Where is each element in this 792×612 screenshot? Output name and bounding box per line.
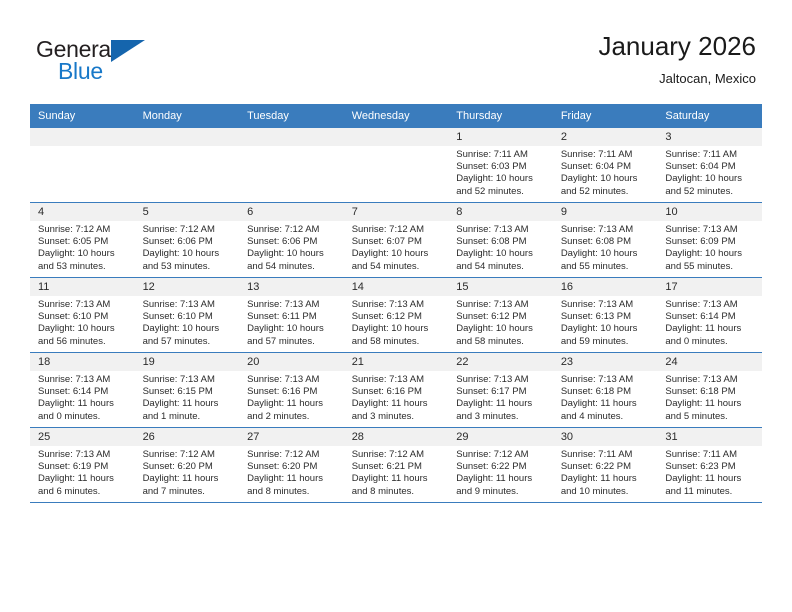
daylight-text-line1: Daylight: 10 hours [456,323,547,335]
calendar-header-row: Sunday Monday Tuesday Wednesday Thursday… [30,104,762,128]
day-cell-inner: 15Sunrise: 7:13 AMSunset: 6:12 PMDayligh… [448,278,553,352]
day-details: Sunrise: 7:13 AMSunset: 6:16 PMDaylight:… [344,371,449,423]
weekday-header-thursday: Thursday [448,104,553,128]
day-cell-inner: 27Sunrise: 7:12 AMSunset: 6:20 PMDayligh… [239,428,344,502]
day-cell-inner: 1Sunrise: 7:11 AMSunset: 6:03 PMDaylight… [448,128,553,202]
daylight-text-line1: Daylight: 10 hours [456,248,547,260]
brand-logo[interactable]: General Blue [36,36,166,88]
day-number: 9 [553,203,658,221]
daylight-text-line1: Daylight: 11 hours [665,398,756,410]
daylight-text-line2: and 58 minutes. [456,336,547,348]
calendar-cell-empty [344,128,449,203]
calendar-day-cell[interactable]: 17Sunrise: 7:13 AMSunset: 6:14 PMDayligh… [657,278,762,353]
day-cell-inner: 26Sunrise: 7:12 AMSunset: 6:20 PMDayligh… [135,428,240,502]
daylight-text-line2: and 3 minutes. [352,411,443,423]
day-number: 21 [344,353,449,371]
daylight-text-line1: Daylight: 10 hours [247,248,338,260]
day-cell-inner: 25Sunrise: 7:13 AMSunset: 6:19 PMDayligh… [30,428,135,502]
daylight-text-line2: and 52 minutes. [456,186,547,198]
day-number: 24 [657,353,762,371]
daylight-text-line1: Daylight: 11 hours [143,473,234,485]
calendar-day-cell[interactable]: 20Sunrise: 7:13 AMSunset: 6:16 PMDayligh… [239,353,344,428]
sunrise-text: Sunrise: 7:12 AM [143,449,234,461]
daylight-text-line1: Daylight: 10 hours [665,173,756,185]
day-number: 8 [448,203,553,221]
calendar-day-cell[interactable]: 3Sunrise: 7:11 AMSunset: 6:04 PMDaylight… [657,128,762,203]
day-cell-inner [344,128,449,202]
calendar-day-cell[interactable]: 9Sunrise: 7:13 AMSunset: 6:08 PMDaylight… [553,203,658,278]
sunset-text: Sunset: 6:04 PM [561,161,652,173]
daylight-text-line2: and 4 minutes. [561,411,652,423]
weekday-header-tuesday: Tuesday [239,104,344,128]
daylight-text-line1: Daylight: 10 hours [247,323,338,335]
calendar-day-cell[interactable]: 28Sunrise: 7:12 AMSunset: 6:21 PMDayligh… [344,428,449,503]
day-number: 13 [239,278,344,296]
day-cell-inner: 20Sunrise: 7:13 AMSunset: 6:16 PMDayligh… [239,353,344,427]
sunset-text: Sunset: 6:18 PM [561,386,652,398]
sunset-text: Sunset: 6:07 PM [352,236,443,248]
calendar-day-cell[interactable]: 5Sunrise: 7:12 AMSunset: 6:06 PMDaylight… [135,203,240,278]
day-details: Sunrise: 7:13 AMSunset: 6:18 PMDaylight:… [553,371,658,423]
weekday-header-monday: Monday [135,104,240,128]
triangle-flag-icon [111,40,145,62]
page-title: January 2026 [598,30,756,62]
day-cell-inner: 31Sunrise: 7:11 AMSunset: 6:23 PMDayligh… [657,428,762,502]
day-details: Sunrise: 7:12 AMSunset: 6:06 PMDaylight:… [239,221,344,273]
day-details: Sunrise: 7:12 AMSunset: 6:06 PMDaylight:… [135,221,240,273]
sunrise-text: Sunrise: 7:13 AM [38,449,129,461]
day-number: 22 [448,353,553,371]
day-cell-inner [239,128,344,202]
sunset-text: Sunset: 6:08 PM [456,236,547,248]
day-details: Sunrise: 7:13 AMSunset: 6:14 PMDaylight:… [30,371,135,423]
daylight-text-line2: and 2 minutes. [247,411,338,423]
daylight-text-line2: and 11 minutes. [665,486,756,498]
day-cell-inner: 2Sunrise: 7:11 AMSunset: 6:04 PMDaylight… [553,128,658,202]
calendar-page: General Blue January 2026 Jaltocan, Mexi… [0,0,792,612]
day-number [239,128,344,146]
daylight-text-line1: Daylight: 11 hours [561,398,652,410]
page-subtitle: Jaltocan, Mexico [598,70,756,88]
day-number [344,128,449,146]
daylight-text-line1: Daylight: 11 hours [456,398,547,410]
daylight-text-line1: Daylight: 10 hours [665,248,756,260]
daylight-text-line2: and 10 minutes. [561,486,652,498]
day-cell-inner: 7Sunrise: 7:12 AMSunset: 6:07 PMDaylight… [344,203,449,277]
sunset-text: Sunset: 6:17 PM [456,386,547,398]
day-details: Sunrise: 7:12 AMSunset: 6:07 PMDaylight:… [344,221,449,273]
daylight-text-line2: and 5 minutes. [665,411,756,423]
daylight-text-line2: and 0 minutes. [665,336,756,348]
daylight-text-line2: and 56 minutes. [38,336,129,348]
daylight-text-line2: and 52 minutes. [665,186,756,198]
sunrise-text: Sunrise: 7:11 AM [561,449,652,461]
calendar-body: 1Sunrise: 7:11 AMSunset: 6:03 PMDaylight… [30,128,762,503]
daylight-text-line1: Daylight: 11 hours [143,398,234,410]
calendar-grid: Sunday Monday Tuesday Wednesday Thursday… [30,104,762,503]
page-header: General Blue January 2026 Jaltocan, Mexi… [0,0,792,100]
daylight-text-line1: Daylight: 11 hours [665,473,756,485]
sunrise-text: Sunrise: 7:13 AM [665,374,756,386]
day-details: Sunrise: 7:11 AMSunset: 6:04 PMDaylight:… [657,146,762,198]
day-number: 14 [344,278,449,296]
day-number: 16 [553,278,658,296]
daylight-text-line1: Daylight: 10 hours [38,323,129,335]
calendar-week-row: 25Sunrise: 7:13 AMSunset: 6:19 PMDayligh… [30,428,762,503]
sunrise-text: Sunrise: 7:11 AM [456,149,547,161]
calendar-day-cell[interactable]: 10Sunrise: 7:13 AMSunset: 6:09 PMDayligh… [657,203,762,278]
calendar-day-cell[interactable]: 24Sunrise: 7:13 AMSunset: 6:18 PMDayligh… [657,353,762,428]
day-details: Sunrise: 7:12 AMSunset: 6:20 PMDaylight:… [135,446,240,498]
calendar-day-cell[interactable]: 21Sunrise: 7:13 AMSunset: 6:16 PMDayligh… [344,353,449,428]
calendar-week-row: 1Sunrise: 7:11 AMSunset: 6:03 PMDaylight… [30,128,762,203]
day-cell-inner: 5Sunrise: 7:12 AMSunset: 6:06 PMDaylight… [135,203,240,277]
sunrise-text: Sunrise: 7:13 AM [665,224,756,236]
sunrise-text: Sunrise: 7:13 AM [38,299,129,311]
calendar-day-cell[interactable]: 4Sunrise: 7:12 AMSunset: 6:05 PMDaylight… [30,203,135,278]
daylight-text-line1: Daylight: 10 hours [561,323,652,335]
sunset-text: Sunset: 6:14 PM [665,311,756,323]
day-cell-inner: 6Sunrise: 7:12 AMSunset: 6:06 PMDaylight… [239,203,344,277]
sunrise-text: Sunrise: 7:13 AM [456,374,547,386]
sunrise-text: Sunrise: 7:11 AM [665,449,756,461]
sunset-text: Sunset: 6:23 PM [665,461,756,473]
calendar-day-cell[interactable]: 30Sunrise: 7:11 AMSunset: 6:22 PMDayligh… [553,428,658,503]
calendar-day-cell[interactable]: 2Sunrise: 7:11 AMSunset: 6:04 PMDaylight… [553,128,658,203]
daylight-text-line2: and 53 minutes. [38,261,129,273]
title-block: January 2026 Jaltocan, Mexico [598,30,756,88]
daylight-text-line1: Daylight: 10 hours [352,323,443,335]
calendar-day-cell[interactable]: 12Sunrise: 7:13 AMSunset: 6:10 PMDayligh… [135,278,240,353]
day-cell-inner: 4Sunrise: 7:12 AMSunset: 6:05 PMDaylight… [30,203,135,277]
day-cell-inner: 14Sunrise: 7:13 AMSunset: 6:12 PMDayligh… [344,278,449,352]
day-number: 10 [657,203,762,221]
day-details: Sunrise: 7:13 AMSunset: 6:12 PMDaylight:… [344,296,449,348]
day-details: Sunrise: 7:13 AMSunset: 6:12 PMDaylight:… [448,296,553,348]
day-cell-inner: 12Sunrise: 7:13 AMSunset: 6:10 PMDayligh… [135,278,240,352]
day-number [135,128,240,146]
calendar-day-cell[interactable]: 1Sunrise: 7:11 AMSunset: 6:03 PMDaylight… [448,128,553,203]
sunrise-text: Sunrise: 7:12 AM [247,449,338,461]
daylight-text-line2: and 57 minutes. [247,336,338,348]
sunset-text: Sunset: 6:22 PM [561,461,652,473]
day-cell-inner: 29Sunrise: 7:12 AMSunset: 6:22 PMDayligh… [448,428,553,502]
day-number: 1 [448,128,553,146]
day-cell-inner: 19Sunrise: 7:13 AMSunset: 6:15 PMDayligh… [135,353,240,427]
calendar-cell-empty [30,128,135,203]
weekday-header-wednesday: Wednesday [344,104,449,128]
sunrise-text: Sunrise: 7:13 AM [561,299,652,311]
day-number: 30 [553,428,658,446]
day-details: Sunrise: 7:13 AMSunset: 6:13 PMDaylight:… [553,296,658,348]
sunset-text: Sunset: 6:10 PM [143,311,234,323]
day-details: Sunrise: 7:13 AMSunset: 6:16 PMDaylight:… [239,371,344,423]
day-cell-inner: 16Sunrise: 7:13 AMSunset: 6:13 PMDayligh… [553,278,658,352]
daylight-text-line2: and 8 minutes. [352,486,443,498]
sunset-text: Sunset: 6:20 PM [247,461,338,473]
daylight-text-line1: Daylight: 11 hours [247,398,338,410]
calendar-cell-empty [135,128,240,203]
sunrise-text: Sunrise: 7:13 AM [456,224,547,236]
day-number: 29 [448,428,553,446]
sunrise-text: Sunrise: 7:12 AM [456,449,547,461]
day-number [30,128,135,146]
calendar-day-cell[interactable]: 26Sunrise: 7:12 AMSunset: 6:20 PMDayligh… [135,428,240,503]
day-details: Sunrise: 7:13 AMSunset: 6:08 PMDaylight:… [553,221,658,273]
daylight-text-line2: and 9 minutes. [456,486,547,498]
day-number: 3 [657,128,762,146]
sunrise-text: Sunrise: 7:13 AM [143,299,234,311]
calendar-day-cell[interactable]: 19Sunrise: 7:13 AMSunset: 6:15 PMDayligh… [135,353,240,428]
daylight-text-line2: and 0 minutes. [38,411,129,423]
sunset-text: Sunset: 6:21 PM [352,461,443,473]
day-number: 31 [657,428,762,446]
calendar-day-cell[interactable]: 14Sunrise: 7:13 AMSunset: 6:12 PMDayligh… [344,278,449,353]
daylight-text-line2: and 54 minutes. [456,261,547,273]
day-cell-inner: 11Sunrise: 7:13 AMSunset: 6:10 PMDayligh… [30,278,135,352]
day-details: Sunrise: 7:13 AMSunset: 6:19 PMDaylight:… [30,446,135,498]
sunrise-text: Sunrise: 7:13 AM [456,299,547,311]
day-cell-inner: 10Sunrise: 7:13 AMSunset: 6:09 PMDayligh… [657,203,762,277]
day-number: 26 [135,428,240,446]
day-details: Sunrise: 7:13 AMSunset: 6:10 PMDaylight:… [135,296,240,348]
daylight-text-line1: Daylight: 10 hours [38,248,129,260]
daylight-text-line1: Daylight: 10 hours [143,248,234,260]
sunset-text: Sunset: 6:22 PM [456,461,547,473]
calendar-day-cell[interactable]: 11Sunrise: 7:13 AMSunset: 6:10 PMDayligh… [30,278,135,353]
day-details: Sunrise: 7:11 AMSunset: 6:22 PMDaylight:… [553,446,658,498]
sunset-text: Sunset: 6:13 PM [561,311,652,323]
day-details: Sunrise: 7:13 AMSunset: 6:18 PMDaylight:… [657,371,762,423]
day-number: 19 [135,353,240,371]
day-cell-inner: 3Sunrise: 7:11 AMSunset: 6:04 PMDaylight… [657,128,762,202]
day-details: Sunrise: 7:13 AMSunset: 6:17 PMDaylight:… [448,371,553,423]
sunrise-text: Sunrise: 7:11 AM [561,149,652,161]
calendar-day-cell[interactable]: 6Sunrise: 7:12 AMSunset: 6:06 PMDaylight… [239,203,344,278]
sunset-text: Sunset: 6:05 PM [38,236,129,248]
day-number: 25 [30,428,135,446]
day-cell-inner: 13Sunrise: 7:13 AMSunset: 6:11 PMDayligh… [239,278,344,352]
day-cell-inner [30,128,135,202]
sunset-text: Sunset: 6:03 PM [456,161,547,173]
day-cell-inner: 30Sunrise: 7:11 AMSunset: 6:22 PMDayligh… [553,428,658,502]
day-number: 20 [239,353,344,371]
sunset-text: Sunset: 6:09 PM [665,236,756,248]
sunset-text: Sunset: 6:16 PM [352,386,443,398]
brand-name-secondary: Blue [58,58,103,84]
day-cell-inner: 9Sunrise: 7:13 AMSunset: 6:08 PMDaylight… [553,203,658,277]
day-number: 4 [30,203,135,221]
day-number: 23 [553,353,658,371]
daylight-text-line2: and 6 minutes. [38,486,129,498]
day-number: 11 [30,278,135,296]
daylight-text-line2: and 59 minutes. [561,336,652,348]
daylight-text-line1: Daylight: 10 hours [352,248,443,260]
calendar-day-cell[interactable]: 31Sunrise: 7:11 AMSunset: 6:23 PMDayligh… [657,428,762,503]
calendar-day-cell[interactable]: 23Sunrise: 7:13 AMSunset: 6:18 PMDayligh… [553,353,658,428]
daylight-text-line2: and 1 minute. [143,411,234,423]
day-details: Sunrise: 7:13 AMSunset: 6:11 PMDaylight:… [239,296,344,348]
day-cell-inner [135,128,240,202]
day-cell-inner: 18Sunrise: 7:13 AMSunset: 6:14 PMDayligh… [30,353,135,427]
sunset-text: Sunset: 6:15 PM [143,386,234,398]
calendar-week-row: 11Sunrise: 7:13 AMSunset: 6:10 PMDayligh… [30,278,762,353]
calendar-day-cell[interactable]: 22Sunrise: 7:13 AMSunset: 6:17 PMDayligh… [448,353,553,428]
calendar-cell-empty [239,128,344,203]
sunset-text: Sunset: 6:20 PM [143,461,234,473]
day-number: 15 [448,278,553,296]
day-number: 17 [657,278,762,296]
day-details: Sunrise: 7:12 AMSunset: 6:20 PMDaylight:… [239,446,344,498]
daylight-text-line1: Daylight: 11 hours [38,473,129,485]
day-number: 5 [135,203,240,221]
day-details: Sunrise: 7:11 AMSunset: 6:04 PMDaylight:… [553,146,658,198]
daylight-text-line1: Daylight: 11 hours [665,323,756,335]
day-details: Sunrise: 7:11 AMSunset: 6:03 PMDaylight:… [448,146,553,198]
calendar-day-cell[interactable]: 8Sunrise: 7:13 AMSunset: 6:08 PMDaylight… [448,203,553,278]
daylight-text-line2: and 58 minutes. [352,336,443,348]
daylight-text-line1: Daylight: 11 hours [352,473,443,485]
day-cell-inner: 21Sunrise: 7:13 AMSunset: 6:16 PMDayligh… [344,353,449,427]
sunrise-text: Sunrise: 7:12 AM [352,224,443,236]
daylight-text-line2: and 7 minutes. [143,486,234,498]
daylight-text-line1: Daylight: 11 hours [352,398,443,410]
day-details: Sunrise: 7:13 AMSunset: 6:08 PMDaylight:… [448,221,553,273]
sunset-text: Sunset: 6:06 PM [247,236,338,248]
day-details: Sunrise: 7:13 AMSunset: 6:10 PMDaylight:… [30,296,135,348]
day-cell-inner: 24Sunrise: 7:13 AMSunset: 6:18 PMDayligh… [657,353,762,427]
daylight-text-line1: Daylight: 10 hours [456,173,547,185]
sunset-text: Sunset: 6:12 PM [352,311,443,323]
calendar-day-cell[interactable]: 29Sunrise: 7:12 AMSunset: 6:22 PMDayligh… [448,428,553,503]
day-cell-inner: 8Sunrise: 7:13 AMSunset: 6:08 PMDaylight… [448,203,553,277]
daylight-text-line2: and 52 minutes. [561,186,652,198]
daylight-text-line1: Daylight: 10 hours [143,323,234,335]
calendar-day-cell[interactable]: 13Sunrise: 7:13 AMSunset: 6:11 PMDayligh… [239,278,344,353]
sunset-text: Sunset: 6:04 PM [665,161,756,173]
sunrise-text: Sunrise: 7:13 AM [38,374,129,386]
sunset-text: Sunset: 6:18 PM [665,386,756,398]
sunrise-text: Sunrise: 7:13 AM [665,299,756,311]
sunset-text: Sunset: 6:10 PM [38,311,129,323]
weekday-header-sunday: Sunday [30,104,135,128]
daylight-text-line2: and 53 minutes. [143,261,234,273]
sunrise-text: Sunrise: 7:12 AM [143,224,234,236]
daylight-text-line1: Daylight: 10 hours [561,248,652,260]
day-details: Sunrise: 7:13 AMSunset: 6:14 PMDaylight:… [657,296,762,348]
day-details: Sunrise: 7:13 AMSunset: 6:09 PMDaylight:… [657,221,762,273]
sunset-text: Sunset: 6:06 PM [143,236,234,248]
sunrise-text: Sunrise: 7:13 AM [143,374,234,386]
day-cell-inner: 23Sunrise: 7:13 AMSunset: 6:18 PMDayligh… [553,353,658,427]
sunset-text: Sunset: 6:08 PM [561,236,652,248]
calendar-day-cell[interactable]: 27Sunrise: 7:12 AMSunset: 6:20 PMDayligh… [239,428,344,503]
sunrise-text: Sunrise: 7:13 AM [352,374,443,386]
sunset-text: Sunset: 6:14 PM [38,386,129,398]
sunset-text: Sunset: 6:12 PM [456,311,547,323]
sunrise-text: Sunrise: 7:13 AM [247,299,338,311]
day-number: 6 [239,203,344,221]
calendar-day-cell[interactable]: 16Sunrise: 7:13 AMSunset: 6:13 PMDayligh… [553,278,658,353]
daylight-text-line2: and 3 minutes. [456,411,547,423]
daylight-text-line2: and 57 minutes. [143,336,234,348]
calendar-week-row: 18Sunrise: 7:13 AMSunset: 6:14 PMDayligh… [30,353,762,428]
sunrise-text: Sunrise: 7:13 AM [561,224,652,236]
daylight-text-line2: and 54 minutes. [247,261,338,273]
day-details: Sunrise: 7:13 AMSunset: 6:15 PMDaylight:… [135,371,240,423]
day-details: Sunrise: 7:12 AMSunset: 6:21 PMDaylight:… [344,446,449,498]
sunrise-text: Sunrise: 7:12 AM [247,224,338,236]
weekday-header-saturday: Saturday [657,104,762,128]
day-number: 7 [344,203,449,221]
day-details: Sunrise: 7:11 AMSunset: 6:23 PMDaylight:… [657,446,762,498]
sunset-text: Sunset: 6:11 PM [247,311,338,323]
day-number: 27 [239,428,344,446]
sunrise-text: Sunrise: 7:12 AM [38,224,129,236]
calendar-week-row: 4Sunrise: 7:12 AMSunset: 6:05 PMDaylight… [30,203,762,278]
daylight-text-line2: and 55 minutes. [665,261,756,273]
daylight-text-line1: Daylight: 11 hours [247,473,338,485]
day-cell-inner: 28Sunrise: 7:12 AMSunset: 6:21 PMDayligh… [344,428,449,502]
daylight-text-line1: Daylight: 11 hours [561,473,652,485]
sunrise-text: Sunrise: 7:13 AM [247,374,338,386]
daylight-text-line2: and 8 minutes. [247,486,338,498]
sunrise-text: Sunrise: 7:13 AM [561,374,652,386]
day-details: Sunrise: 7:12 AMSunset: 6:22 PMDaylight:… [448,446,553,498]
sunset-text: Sunset: 6:19 PM [38,461,129,473]
calendar-day-cell[interactable]: 25Sunrise: 7:13 AMSunset: 6:19 PMDayligh… [30,428,135,503]
sunrise-text: Sunrise: 7:11 AM [665,149,756,161]
calendar-day-cell[interactable]: 15Sunrise: 7:13 AMSunset: 6:12 PMDayligh… [448,278,553,353]
daylight-text-line1: Daylight: 11 hours [456,473,547,485]
sunrise-text: Sunrise: 7:12 AM [352,449,443,461]
daylight-text-line1: Daylight: 11 hours [38,398,129,410]
day-cell-inner: 17Sunrise: 7:13 AMSunset: 6:14 PMDayligh… [657,278,762,352]
day-cell-inner: 22Sunrise: 7:13 AMSunset: 6:17 PMDayligh… [448,353,553,427]
day-number: 2 [553,128,658,146]
calendar-day-cell[interactable]: 7Sunrise: 7:12 AMSunset: 6:07 PMDaylight… [344,203,449,278]
weekday-header-friday: Friday [553,104,658,128]
sunrise-text: Sunrise: 7:13 AM [352,299,443,311]
day-details: Sunrise: 7:12 AMSunset: 6:05 PMDaylight:… [30,221,135,273]
sunset-text: Sunset: 6:16 PM [247,386,338,398]
daylight-text-line2: and 55 minutes. [561,261,652,273]
daylight-text-line2: and 54 minutes. [352,261,443,273]
day-number: 12 [135,278,240,296]
day-number: 18 [30,353,135,371]
day-number: 28 [344,428,449,446]
calendar-day-cell[interactable]: 18Sunrise: 7:13 AMSunset: 6:14 PMDayligh… [30,353,135,428]
daylight-text-line1: Daylight: 10 hours [561,173,652,185]
